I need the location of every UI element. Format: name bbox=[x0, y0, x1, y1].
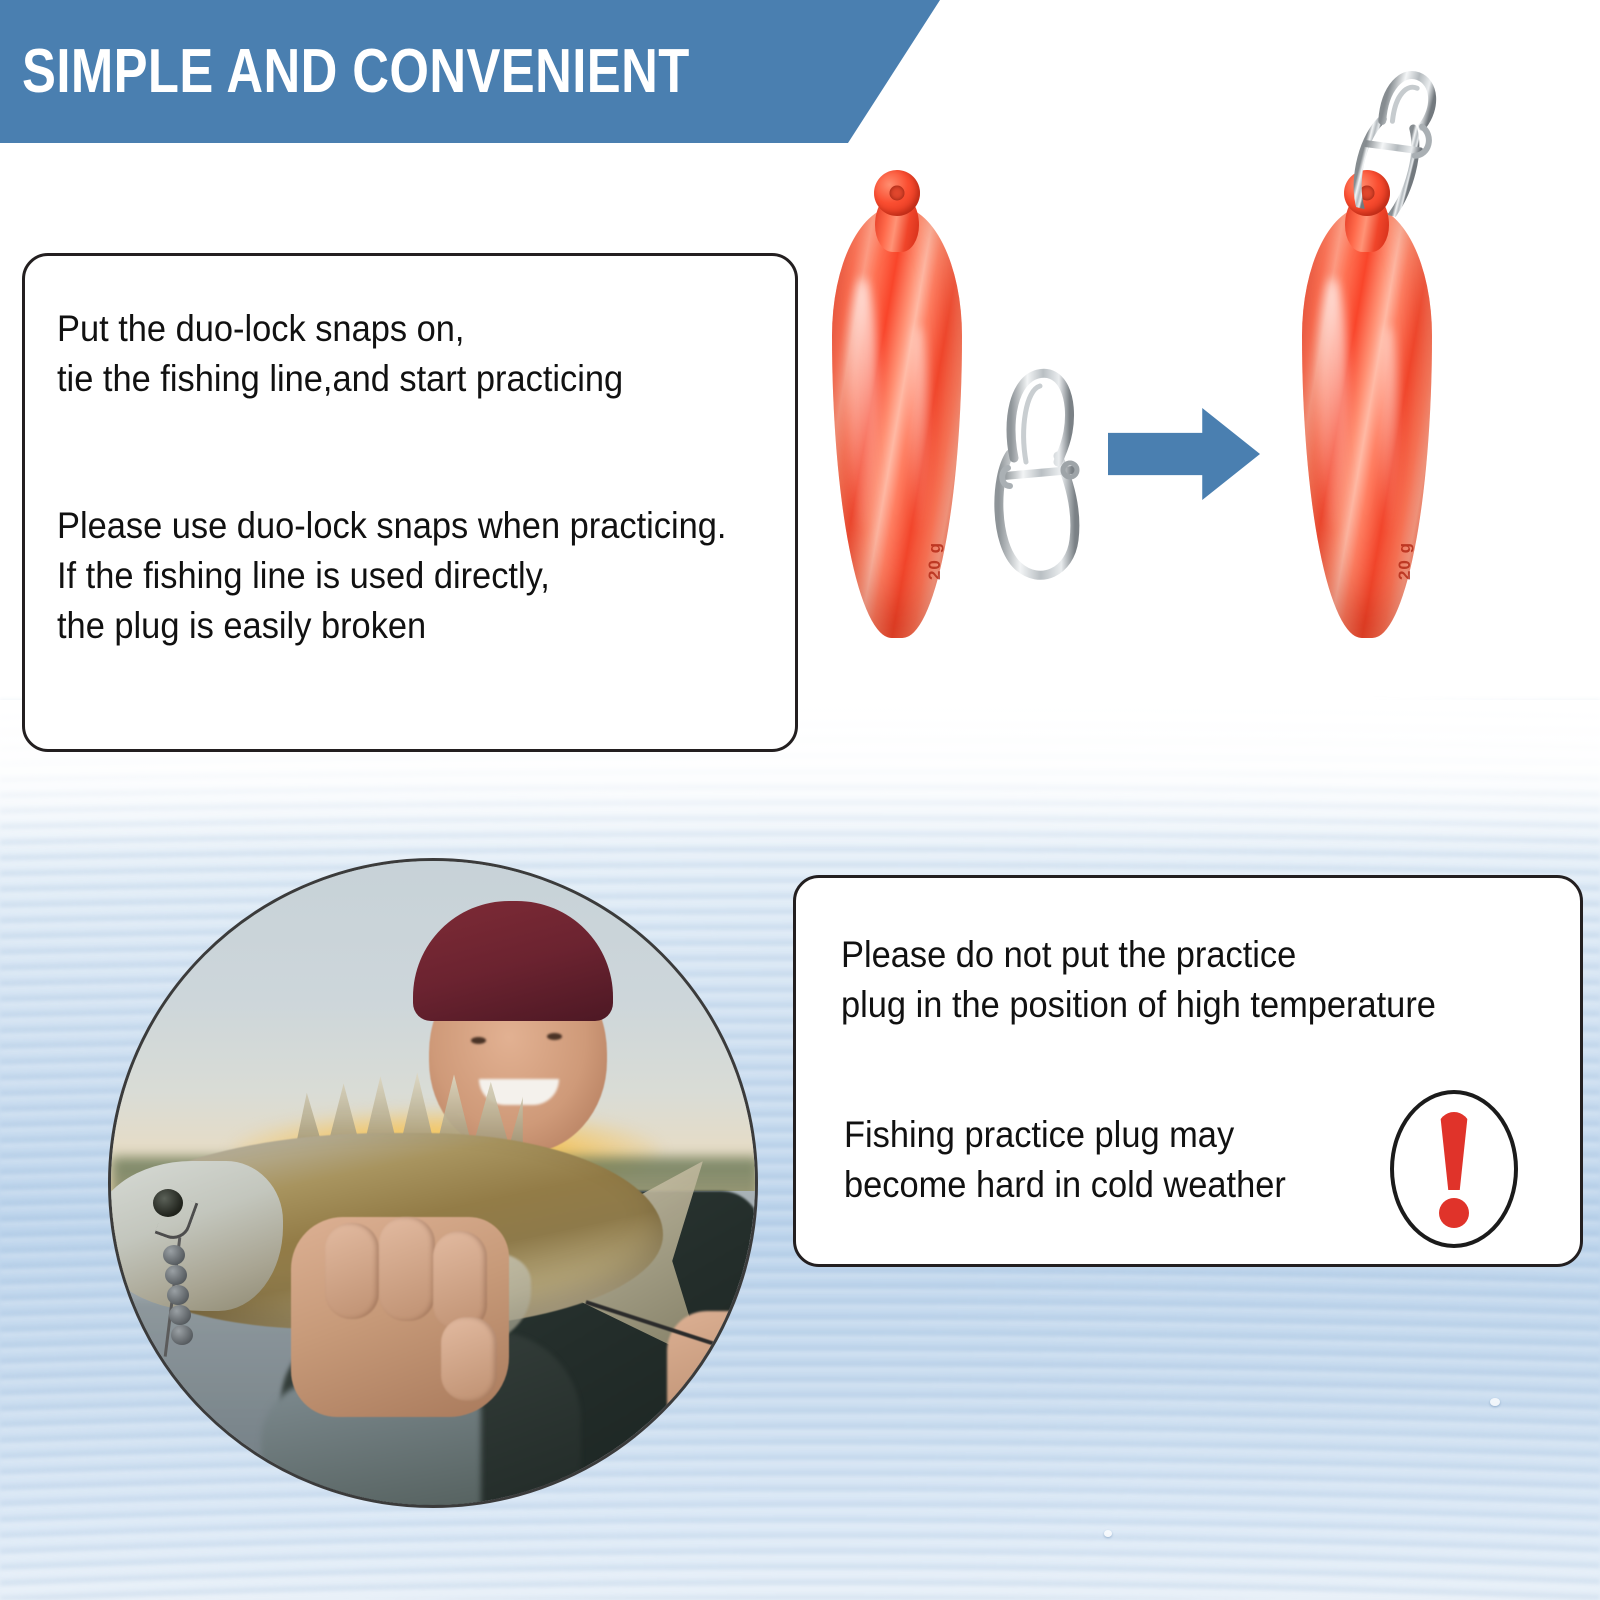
photo-lure-bead bbox=[167, 1285, 189, 1305]
photo-lure-bead bbox=[169, 1305, 191, 1325]
plug-weight-label: 20 g bbox=[1396, 542, 1414, 580]
instructions-callout-box: Put the duo-lock snaps on, tie the fishi… bbox=[22, 253, 798, 752]
instructions-paragraph-2: Please use duo-lock snaps when practicin… bbox=[57, 501, 726, 651]
warning-paragraph-2: Fishing practice plug may become hard in… bbox=[844, 1110, 1286, 1210]
header-banner: SIMPLE AND CONVENIENT bbox=[0, 0, 940, 143]
water-droplet bbox=[1490, 1398, 1500, 1406]
photo-finger bbox=[441, 1317, 497, 1401]
practice-plug-left: 20 g bbox=[832, 168, 962, 638]
photo-finger bbox=[379, 1217, 435, 1321]
plug-body: 20 g bbox=[1302, 206, 1432, 638]
plug-highlight-secondary bbox=[910, 326, 928, 536]
warning-exclamation-dot bbox=[1439, 1198, 1469, 1228]
plug-eyelet bbox=[874, 170, 920, 216]
photo-angler-eye bbox=[471, 1037, 486, 1044]
plug-weight-label: 20 g bbox=[926, 542, 944, 580]
photo-spinner-marking bbox=[155, 1436, 187, 1454]
water-droplet bbox=[1104, 1530, 1112, 1537]
photo-spinner-marking bbox=[164, 1471, 191, 1487]
practice-plug-with-snap: 20 g bbox=[1302, 168, 1432, 638]
instructions-paragraph-1: Put the duo-lock snaps on, tie the fishi… bbox=[57, 304, 623, 404]
duo-lock-snap-icon bbox=[988, 358, 1080, 586]
plug-highlight-secondary bbox=[1380, 326, 1398, 536]
page-title: SIMPLE AND CONVENIENT bbox=[22, 41, 690, 103]
photo-angler-eye bbox=[547, 1033, 562, 1040]
warning-paragraph-1: Please do not put the practice plug in t… bbox=[841, 930, 1436, 1030]
assembly-arrow-icon bbox=[1108, 408, 1260, 500]
duo-lock-snap-attached bbox=[1331, 55, 1457, 223]
photo-angler-hand bbox=[291, 1217, 509, 1417]
duo-lock-snap-icon bbox=[1331, 55, 1457, 223]
exclamation-warning-icon bbox=[1390, 1090, 1518, 1248]
photo-finger bbox=[325, 1223, 379, 1319]
photo-lure-bead bbox=[165, 1265, 187, 1285]
angler-photo bbox=[108, 858, 758, 1508]
plug-body: 20 g bbox=[832, 206, 962, 638]
infographic-canvas: SIMPLE AND CONVENIENT Put the duo-lock s… bbox=[0, 0, 1600, 1600]
plug-highlight bbox=[1318, 278, 1348, 528]
duo-lock-snap-loose bbox=[988, 358, 1080, 586]
photo-fish-head bbox=[108, 1161, 283, 1311]
photo-lure-bead bbox=[163, 1245, 185, 1265]
photo-finger bbox=[433, 1231, 487, 1331]
photo-lure-bead bbox=[171, 1325, 193, 1345]
plug-highlight bbox=[848, 278, 878, 528]
